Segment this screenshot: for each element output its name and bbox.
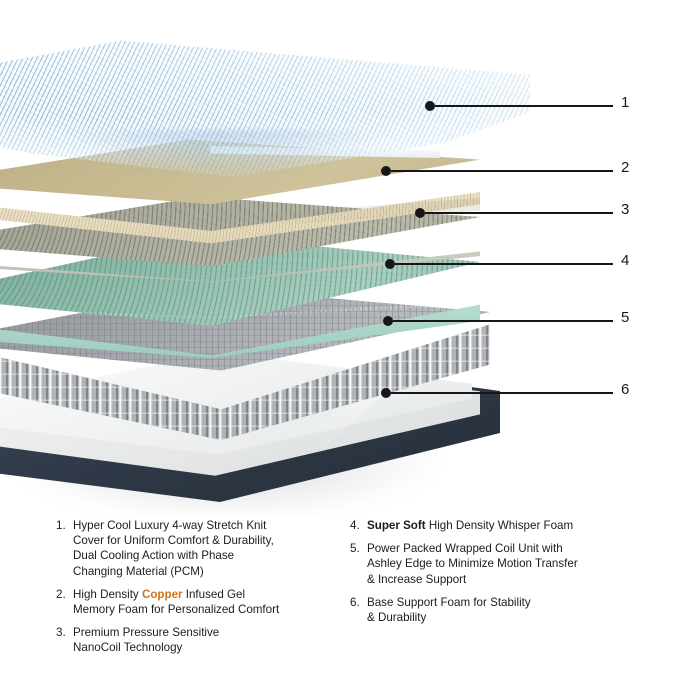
callout-4: 4 [385, 263, 630, 265]
callout-line-4 [395, 263, 613, 265]
legend-line: & Increase Support [367, 572, 650, 587]
legend-highlight-copper: Copper [142, 588, 183, 601]
callout-dot-1 [425, 101, 435, 111]
legend-number-2: 2. [56, 587, 70, 602]
callout-dot-6 [381, 388, 391, 398]
legend-item-3: 3. Premium Pressure Sensitive NanoCoil T… [56, 625, 356, 655]
legend-line: & Durability [367, 610, 650, 625]
knit-cover-layer [0, 38, 530, 188]
callout-number-1: 1 [621, 94, 629, 111]
legend-item-4: 4. Super Soft High Density Whisper Foam [350, 518, 650, 533]
callout-2: 2 [381, 170, 630, 172]
callout-number-6: 6 [621, 381, 629, 398]
callout-line-3 [425, 212, 613, 214]
callout-number-4: 4 [621, 252, 629, 269]
callout-number-3: 3 [621, 201, 629, 218]
callout-dot-2 [381, 166, 391, 176]
legend-item-6: 6. Base Support Foam for Stability & Dur… [350, 595, 650, 625]
legend-item-5: 5. Power Packed Wrapped Coil Unit with A… [350, 541, 650, 587]
callout-number-5: 5 [621, 309, 629, 326]
legend-item-1: 1. Hyper Cool Luxury 4-way Stretch Knit … [56, 518, 356, 579]
callout-line-5 [393, 320, 613, 322]
callout-dot-5 [383, 316, 393, 326]
callout-dot-3 [415, 208, 425, 218]
callout-line-2 [391, 170, 613, 172]
legend-column-left: 1. Hyper Cool Luxury 4-way Stretch Knit … [56, 518, 356, 664]
legend-line: Changing Material (PCM) [73, 564, 356, 579]
legend-text-post: Infused Gel [183, 588, 246, 601]
callout-3: 3 [415, 212, 630, 214]
callout-number-2: 2 [621, 159, 629, 176]
legend-number-3: 3. [56, 625, 70, 640]
legend-line: Ashley Edge to Minimize Motion Transfer [367, 556, 650, 571]
legend-number-1: 1. [56, 518, 70, 533]
legend-text-post: High Density Whisper Foam [426, 519, 574, 532]
callout-1: 1 [425, 105, 630, 107]
legend-column-right: 4. Super Soft High Density Whisper Foam … [350, 518, 650, 633]
knit-cover-fold-shadow [60, 130, 390, 178]
callout-5: 5 [383, 320, 630, 322]
legend-line: Super Soft High Density Whisper Foam [367, 518, 650, 533]
legend-line: Dual Cooling Action with Phase [73, 548, 356, 563]
legend-line: Cover for Uniform Comfort & Durability, [73, 533, 356, 548]
legend-number-5: 5. [350, 541, 364, 556]
legend-number-6: 6. [350, 595, 364, 610]
legend-bold-super-soft: Super Soft [367, 519, 426, 532]
legend-line: High Density Copper Infused Gel [73, 587, 356, 602]
mattress-cutaway-diagram: 1 2 3 4 5 6 [0, 0, 700, 515]
legend-number-4: 4. [350, 518, 364, 533]
legend-line: NanoCoil Technology [73, 640, 356, 655]
legend-line: Power Packed Wrapped Coil Unit with [367, 541, 650, 556]
legend: 1. Hyper Cool Luxury 4-way Stretch Knit … [0, 518, 700, 698]
callout-dot-4 [385, 259, 395, 269]
legend-line: Base Support Foam for Stability [367, 595, 650, 610]
legend-text-pre: High Density [73, 588, 142, 601]
callout-6: 6 [381, 392, 630, 394]
legend-item-2: 2. High Density Copper Infused Gel Memor… [56, 587, 356, 617]
legend-line: Premium Pressure Sensitive [73, 625, 356, 640]
legend-line: Hyper Cool Luxury 4-way Stretch Knit [73, 518, 356, 533]
legend-line: Memory Foam for Personalized Comfort [73, 602, 356, 617]
callout-line-1 [435, 105, 613, 107]
callout-line-6 [391, 392, 613, 394]
